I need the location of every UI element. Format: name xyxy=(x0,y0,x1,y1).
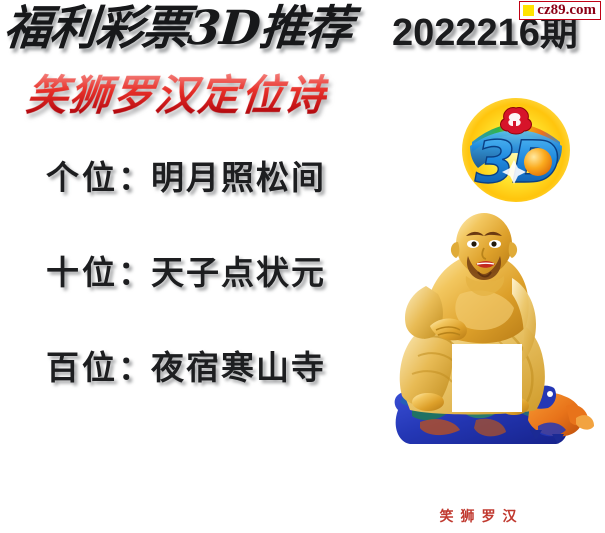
poem-position-label: 十位 xyxy=(46,253,118,292)
watermark-label: cz89.com xyxy=(537,3,596,18)
lottery-recommendation-poster: cz89.com 福利彩票3D推荐 2022216期 笑狮罗汉定位诗 个位：明月… xyxy=(0,0,605,533)
poem-position-label: 百位 xyxy=(46,348,118,387)
poem-line: 十位：天子点状元 xyxy=(46,225,376,320)
blank-overlay-box xyxy=(452,344,522,412)
illustration-caption: 笑狮罗汉 xyxy=(408,508,548,526)
poem-separator: ： xyxy=(118,348,151,387)
logo-artwork: 3 D xyxy=(462,98,570,202)
poem-phrase: 明月照松间 xyxy=(151,158,326,197)
poem-position-label: 个位 xyxy=(46,158,118,197)
poem-separator: ： xyxy=(118,253,151,292)
lottery-3d-logo-icon: 3 D xyxy=(462,98,570,202)
poem-separator: ： xyxy=(118,158,151,197)
poem-phrase: 夜宿寒山寺 xyxy=(151,348,326,387)
watermark-square-icon xyxy=(523,5,534,16)
poem-line: 个位：明月照松间 xyxy=(46,130,376,225)
poem-phrase: 天子点状元 xyxy=(151,253,326,292)
poem-line: 百位：夜宿寒山寺 xyxy=(46,320,376,415)
poem-subtitle: 笑狮罗汉定位诗 xyxy=(23,71,329,121)
poem-block: 个位：明月照松间 十位：天子点状元 百位：夜宿寒山寺 xyxy=(46,130,376,415)
site-watermark: cz89.com xyxy=(519,1,601,20)
svg-text:3: 3 xyxy=(475,128,515,196)
page-title: 福利彩票3D推荐 xyxy=(2,2,354,56)
